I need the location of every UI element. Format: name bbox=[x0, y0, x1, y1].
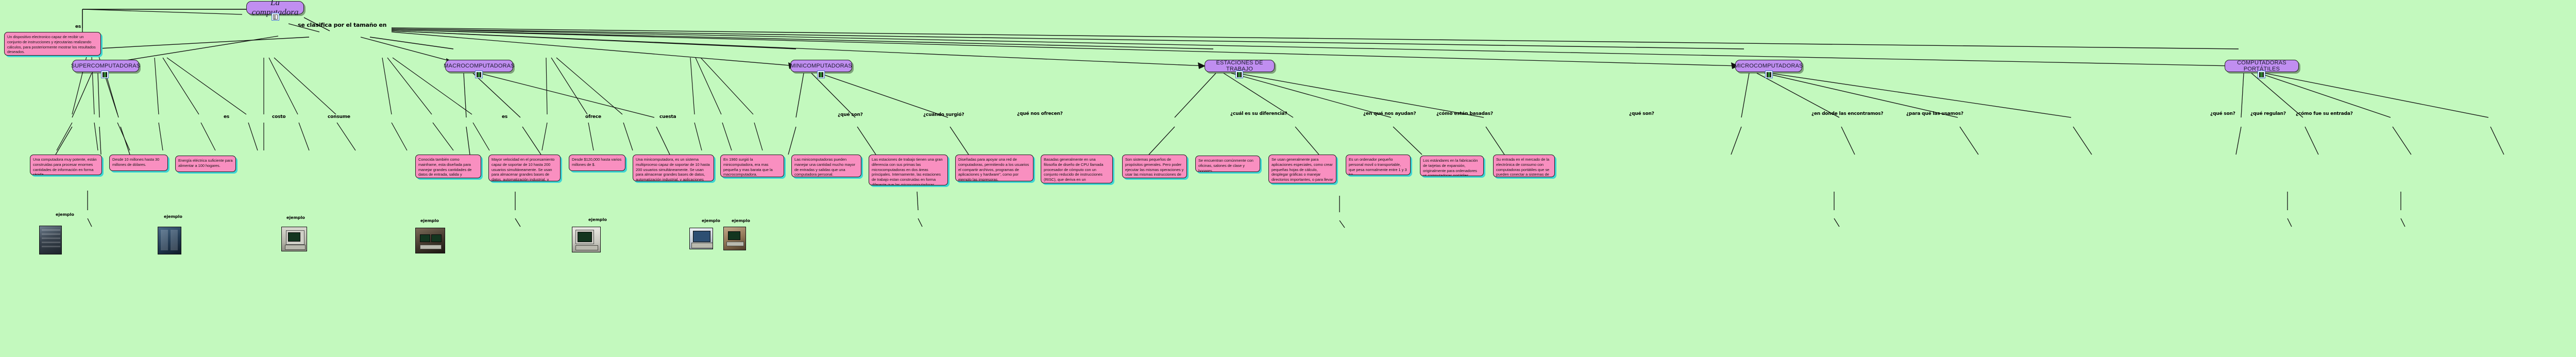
detail-box-super-consumo[interactable]: Energía eléctrica suficiente para alimen… bbox=[175, 156, 236, 172]
link-label-es-super: es bbox=[224, 114, 229, 120]
link-label-costo: costo bbox=[272, 114, 285, 120]
photo-escritorio-portatil[interactable] bbox=[723, 227, 746, 250]
category-label: MICROCOMPUTADORAS bbox=[1734, 63, 1803, 69]
link-label-para-que-las-usamos: ¿para qué las usamos? bbox=[1906, 111, 1963, 116]
film-icon-glyph bbox=[2259, 72, 2264, 77]
ejemplo-label: ejemplo bbox=[588, 217, 607, 222]
link-label-que-nos-ofrecen: ¿qué nos ofrecen? bbox=[1017, 111, 1063, 116]
detail-box-estaciones-basadas[interactable]: Basadas generalmente en una filosofía de… bbox=[1041, 155, 1113, 183]
film-icon[interactable] bbox=[475, 71, 483, 78]
link-label-consume: consume bbox=[328, 114, 350, 120]
link-label-cuando-surgio: ¿cuándo surgió? bbox=[923, 112, 964, 117]
photo-minicomputadora[interactable] bbox=[281, 227, 307, 251]
ejemplo-label: ejemplo bbox=[164, 214, 182, 219]
link-label-cual-es-su-diferencia: ¿cuál es su diferencia? bbox=[1230, 111, 1287, 116]
film-icon-glyph bbox=[819, 72, 823, 77]
film-icon[interactable] bbox=[2258, 71, 2265, 78]
link-label-que-son-mini: ¿qué son? bbox=[838, 112, 863, 117]
detail-box-mini-surgimiento[interactable]: En 1960 surgió la minicomputadora, era m… bbox=[720, 155, 784, 177]
detail-box-micro-definicion[interactable]: Son sistemas pequeños de propósitos gene… bbox=[1122, 155, 1187, 178]
link-label-que-son-portatiles: ¿qué son? bbox=[2210, 111, 2235, 116]
detail-box-super-costo[interactable]: Desde 10 millones hasta 30 millones de d… bbox=[109, 155, 168, 171]
detail-box-estaciones-diferencia[interactable]: Las estaciones de trabajo tienen una gra… bbox=[869, 155, 948, 185]
ejemplo-label: ejemplo bbox=[286, 215, 305, 220]
link-label-ofrece: ofrece bbox=[585, 114, 601, 120]
category-label: MINICOMPUTADORAS bbox=[790, 63, 852, 69]
link-label-como-estan-basadas: ¿cómo están basadas? bbox=[1436, 111, 1493, 116]
category-label: SUPERCOMPUTADORAS bbox=[71, 63, 141, 69]
link-label-cuesta: cuesta bbox=[659, 114, 676, 120]
detail-box-micro-encontramos[interactable]: Se encuentran comúnmente con oficinas, s… bbox=[1195, 156, 1260, 172]
photo-macrocomputadora[interactable] bbox=[158, 227, 181, 254]
film-icon-glyph bbox=[1237, 72, 1242, 77]
concept-map-canvas: La computadora Un dispositivo electronic… bbox=[0, 0, 2576, 357]
photo-estacion-de-trabajo[interactable] bbox=[415, 228, 445, 253]
detail-box-portatiles-definicion[interactable]: Es un ordenador pequeño personal movil o… bbox=[1346, 155, 1411, 175]
root-definition-text: Un dispositivo electronico capaz de reci… bbox=[7, 35, 96, 54]
detail-box-micro-usos[interactable]: Se usan generalmente para aplicaciones e… bbox=[1268, 155, 1336, 183]
link-label-en-donde-las-encontramos: ¿en donde las encontramos? bbox=[1811, 111, 1883, 116]
detail-box-portatiles-entrada[interactable]: Su entrada en el mercado de la electróni… bbox=[1493, 155, 1555, 177]
photo-supercomputadora[interactable] bbox=[39, 226, 62, 254]
detail-box-estaciones-ayudan[interactable]: Diseñadas para apoyar una red de computa… bbox=[955, 155, 1033, 181]
film-icon[interactable] bbox=[1235, 71, 1243, 78]
link-label-en-que-nos-ayudan: ¿en qué nos ayudan? bbox=[1363, 111, 1416, 116]
film-icon[interactable] bbox=[1765, 71, 1773, 78]
category-label: MACROCOMPUTADORAS bbox=[444, 63, 515, 69]
ejemplo-label: ejemplo bbox=[702, 218, 720, 223]
detail-box-macro-costo[interactable]: Desde $120,000 hasta varios millones de … bbox=[569, 155, 625, 171]
photo-microcomputadora[interactable] bbox=[572, 227, 601, 252]
link-label-que-son-micro: ¿qué son? bbox=[1629, 111, 1654, 116]
detail-box-mini-ofrecen[interactable]: Las minicomputadoras pueden manejar una … bbox=[791, 155, 861, 177]
ejemplo-label: ejemplo bbox=[56, 212, 74, 217]
document-icon[interactable] bbox=[272, 13, 279, 21]
film-icon-glyph bbox=[477, 72, 481, 77]
film-icon-glyph bbox=[103, 72, 107, 77]
film-icon[interactable] bbox=[101, 71, 109, 78]
document-icon-glyph bbox=[273, 14, 278, 20]
detail-box-super-definicion[interactable]: Una computadora muy potente, están const… bbox=[30, 155, 102, 175]
film-icon[interactable] bbox=[817, 71, 825, 78]
detail-box-macro-definicion[interactable]: Conocida también como mainframe, esta di… bbox=[415, 155, 481, 178]
link-label-es-macro: es bbox=[502, 114, 507, 120]
link-label-clasificacion: se clasifica por el tamaño en bbox=[298, 22, 386, 28]
root-definition-box[interactable]: Un dispositivo electronico capaz de reci… bbox=[4, 32, 101, 56]
film-icon-glyph bbox=[1767, 72, 1771, 77]
detail-box-mini-definicion[interactable]: Una minicomputadora, es un sistema multi… bbox=[633, 155, 714, 181]
link-label-que-regulan: ¿qué regulan? bbox=[2250, 111, 2286, 116]
link-label-como-fue-su-entrada: ¿cómo fue su entrada? bbox=[2296, 111, 2353, 116]
link-label-es-root: es bbox=[75, 24, 81, 29]
photo-computadora-portatil[interactable] bbox=[689, 228, 713, 249]
detail-box-portatiles-regulan[interactable]: Los estándares en la fabricación de tarj… bbox=[1420, 156, 1484, 176]
ejemplo-label: ejemplo bbox=[732, 218, 750, 223]
detail-box-macro-ofrece[interactable]: Mayor velocidad en el procesamiento capa… bbox=[488, 155, 561, 181]
ejemplo-label: ejemplo bbox=[420, 218, 439, 223]
